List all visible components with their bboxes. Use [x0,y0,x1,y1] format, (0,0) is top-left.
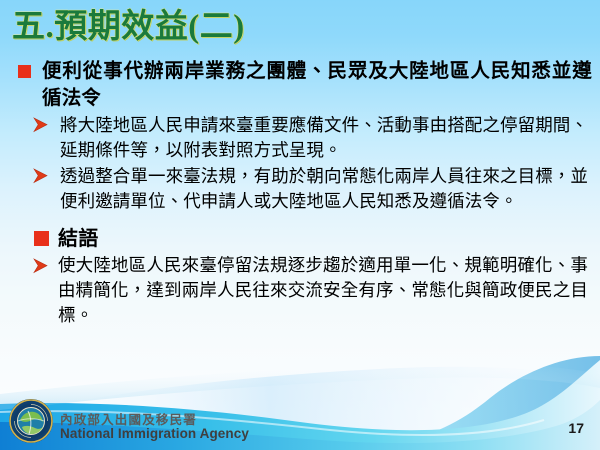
conclusion-heading-item: 結語 [0,226,600,252]
sub-bullet-item: 透過整合單一來臺法規，有助於朝向常態化兩岸人員往來之目標，並便利邀請單位、代申請… [0,164,600,214]
slide-title-block: 五.預期效益(二) [12,7,572,47]
bullet-primary-text: 便利從事代辦兩岸業務之團體、民眾及大陸地區人民知悉並遵循法令 [42,58,592,112]
conclusion-heading-text: 結語 [58,226,592,252]
conclusion-sub-bullet-item: 使大陸地區人民來臺停留法規逐步趨於適用單一化、規範明確化、事由精簡化，達到兩岸人… [0,253,600,328]
red-square-bullet-icon [18,65,31,78]
page-title: 五.預期效益(二) [12,7,572,47]
presentation-slide: 五.預期效益(二) 便利從事代辦兩岸業務之團體、民眾及大陸地區人民知悉並遵循法令… [0,0,600,450]
page-number: 17 [568,420,584,436]
slide-content: 便利從事代辦兩岸業務之團體、民眾及大陸地區人民知悉並遵循法令 將大陸地區人民申請… [0,58,600,329]
nia-emblem-icon [8,398,54,444]
sub-bullet-item: 將大陸地區人民申請來臺重要應備文件、活動事由搭配之停留期間、延期條件等，以附表對… [0,113,600,163]
bullet-item-primary: 便利從事代辦兩岸業務之團體、民眾及大陸地區人民知悉並遵循法令 [0,58,600,112]
red-arrow-bullet-icon [32,256,50,276]
sub-bullet-text: 透過整合單一來臺法規，有助於朝向常態化兩岸人員往來之目標，並便利邀請單位、代申請… [60,164,588,214]
footer-org-name-en: National Immigration Agency [60,427,249,441]
red-arrow-bullet-icon [32,115,50,135]
red-square-bullet-icon [34,231,49,246]
footer-org-name: 內政部入出國及移民署 National Immigration Agency [60,414,249,441]
red-arrow-bullet-icon [32,166,50,186]
conclusion-sub-bullet-text: 使大陸地區人民來臺停留法規逐步趨於適用單一化、規範明確化、事由精簡化，達到兩岸人… [58,253,588,328]
sub-bullet-text: 將大陸地區人民申請來臺重要應備文件、活動事由搭配之停留期間、延期條件等，以附表對… [60,113,588,163]
